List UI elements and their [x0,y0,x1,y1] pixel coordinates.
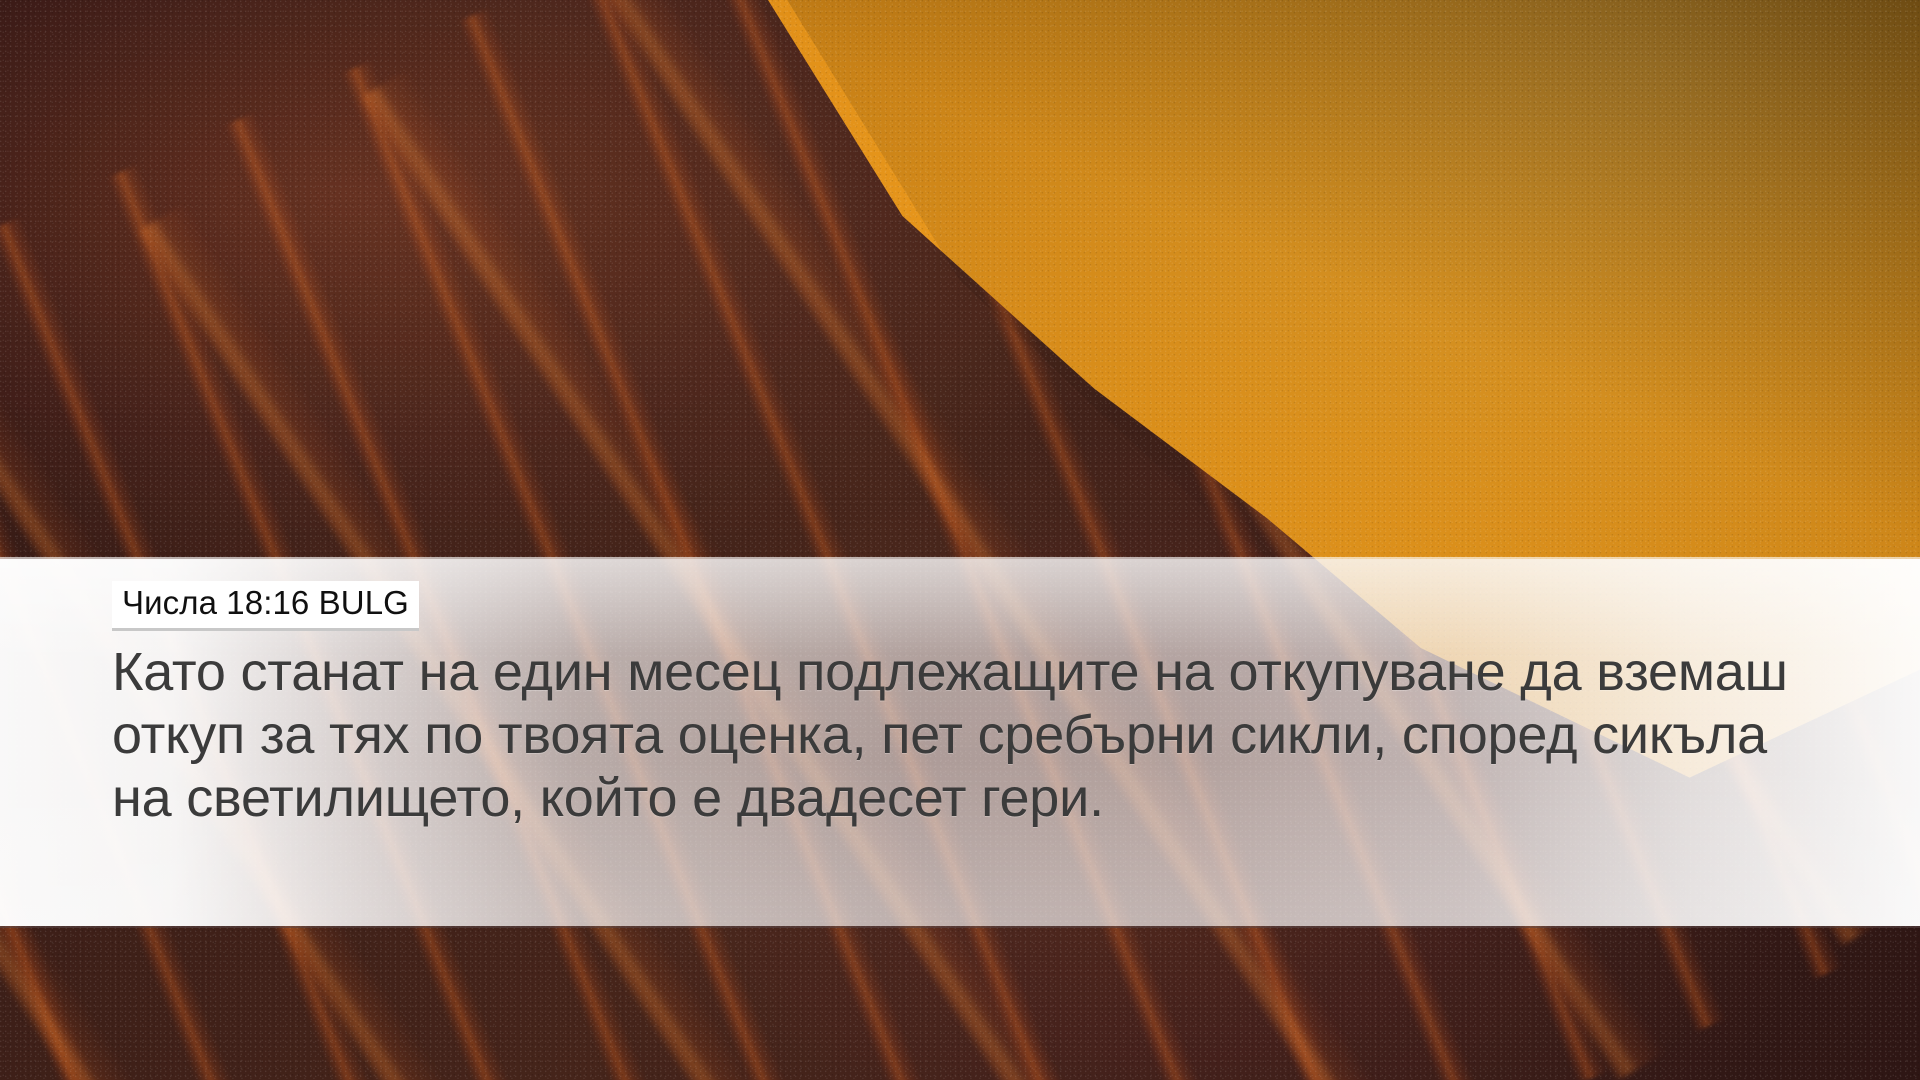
verse-overlay-band: Числа 18:16 BULG Като станат на един мес… [0,557,1920,928]
verse-content: Числа 18:16 BULG Като станат на един мес… [0,559,1920,830]
verse-body-text: Като станат на един месец подлежащите на… [112,641,1832,831]
verse-image-canvas: Числа 18:16 BULG Като станат на един мес… [0,0,1920,1080]
verse-reference-label: Числа 18:16 BULG [112,581,419,631]
